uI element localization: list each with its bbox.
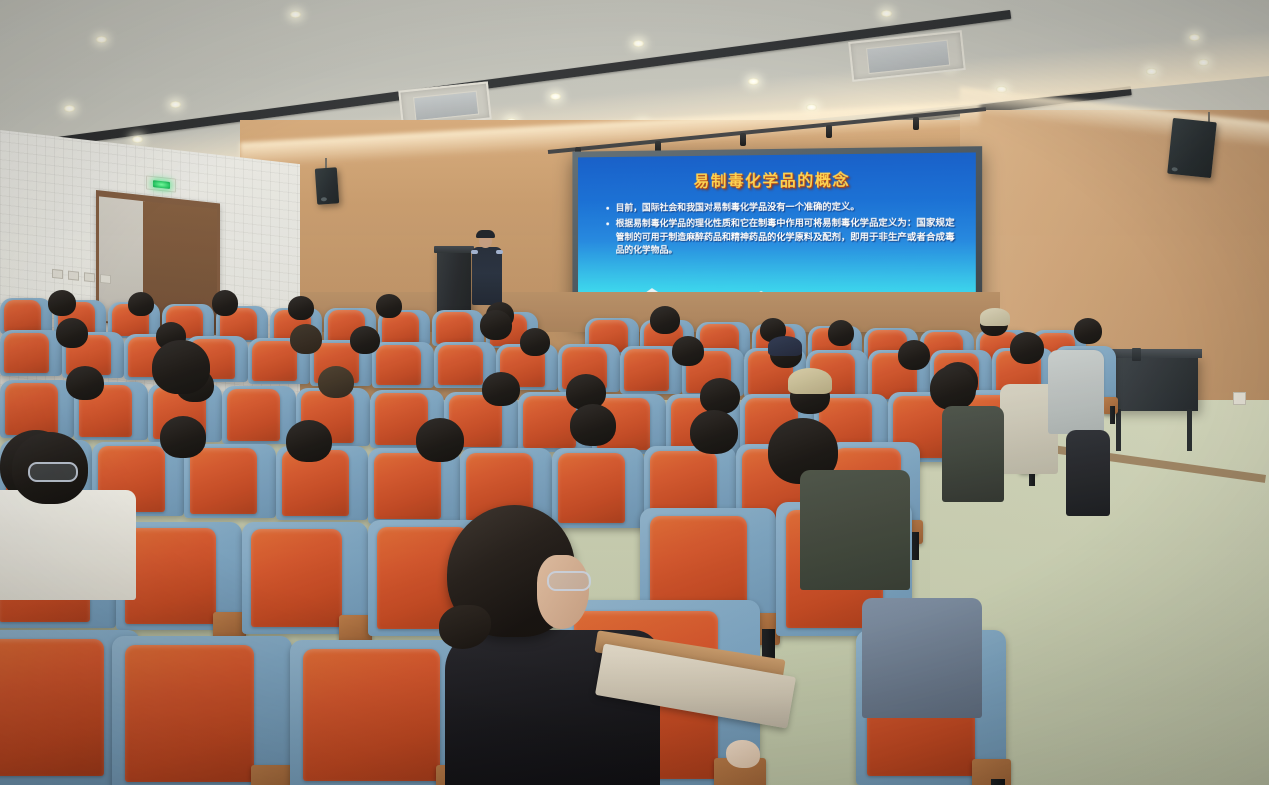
- track-light-head-icon: [826, 125, 832, 138]
- spotlight-icon: [748, 78, 759, 85]
- podium-top: [434, 246, 474, 253]
- spotlight-icon: [290, 11, 301, 18]
- speaker-left-icon: [315, 167, 339, 204]
- audience-head: [1010, 332, 1044, 364]
- spotlight-icon: [1198, 59, 1209, 66]
- audience-torso: [942, 406, 1004, 502]
- audience-head: [520, 328, 550, 356]
- exit-sign-icon: [146, 175, 176, 192]
- audience-head: [482, 372, 520, 406]
- podium: [437, 250, 471, 312]
- audience-head: [416, 418, 464, 462]
- presenter-shoulder-board: [496, 250, 503, 254]
- wall-outlet-icon: [84, 272, 95, 282]
- presenter: [470, 228, 504, 306]
- auditorium-seat[interactable]: [222, 386, 296, 444]
- spotlight-icon: [881, 10, 892, 17]
- audience-head: [480, 310, 512, 340]
- spotlight-icon: [96, 36, 107, 43]
- audience-head: [376, 294, 402, 318]
- spotlight-icon: [550, 93, 561, 100]
- wall-outlet-icon: [100, 274, 111, 284]
- spotlight-icon: [132, 136, 143, 143]
- audience-head: [212, 290, 238, 316]
- audience-head: [318, 366, 354, 398]
- auditorium-seat[interactable]: [112, 636, 292, 785]
- auditorium-seat[interactable]: [432, 310, 484, 346]
- audience-head: [152, 340, 210, 394]
- attendee-face: [537, 555, 589, 629]
- audience-head: [286, 420, 332, 462]
- eyeglasses-icon: [547, 571, 591, 591]
- auditorium-seat[interactable]: [184, 444, 276, 518]
- audience-head: [828, 320, 854, 346]
- audience-head: [672, 336, 704, 366]
- spotlight-icon: [1189, 34, 1200, 41]
- audience-torso: [0, 490, 136, 600]
- slide-body: 目前，国际社会和我国对易制毒化学品没有一个准确的定义。 根据易制毒化学品的理化性…: [606, 200, 957, 261]
- auditorium-photo: 易制毒化学品的概念 目前，国际社会和我国对易制毒化学品没有一个准确的定义。 根据…: [0, 0, 1269, 785]
- cap-icon: [980, 308, 1010, 326]
- audience-head: [160, 416, 206, 458]
- audience-torso: [1048, 350, 1104, 434]
- audience-head: [288, 296, 314, 320]
- audience-head: [690, 410, 738, 454]
- eyeglasses-icon: [28, 462, 78, 482]
- audience-head: [48, 290, 76, 316]
- audience-head: [66, 366, 104, 400]
- slide-bullet: 根据易制毒化学品的理化性质和它在制毒中作用可将易制毒化学品定义为：国家规定管制的…: [606, 217, 957, 258]
- audience-head: [350, 326, 380, 354]
- audience-head: [650, 306, 680, 334]
- desk-leg: [1187, 409, 1192, 451]
- spotlight-icon: [1146, 68, 1157, 75]
- track-light-head-icon: [740, 133, 746, 146]
- auditorium-seat[interactable]: [0, 298, 52, 334]
- audience-torso: [800, 470, 910, 590]
- spotlight-icon: [170, 101, 181, 108]
- desk-leg: [1116, 409, 1121, 451]
- audience-torso: [1066, 430, 1110, 516]
- audience-head: [56, 318, 88, 348]
- wall-outlet-icon: [68, 271, 79, 281]
- control-desk[interactable]: [1110, 355, 1198, 411]
- spotlight-icon: [64, 105, 75, 112]
- auditorium-seat[interactable]: [0, 330, 62, 376]
- attendee-hand: [726, 740, 760, 768]
- track-light-head-icon: [913, 117, 919, 130]
- auditorium-seat[interactable]: [242, 522, 368, 634]
- wall-outlet-icon: [52, 269, 63, 279]
- slide-title: 易制毒化学品的概念: [578, 165, 976, 193]
- cup-icon: [1132, 348, 1141, 361]
- audience-head: [128, 292, 154, 316]
- spotlight-icon: [633, 40, 644, 47]
- audience-head: [1074, 318, 1102, 344]
- audience-torso: [862, 598, 982, 718]
- desk-top: [1106, 349, 1202, 358]
- presenter-shoulder-board: [471, 250, 478, 254]
- light-switch-icon[interactable]: [1233, 392, 1246, 405]
- presenter-uniform: [472, 247, 502, 305]
- slide-bullet: 目前，国际社会和我国对易制毒化学品没有一个准确的定义。: [606, 200, 957, 215]
- cap-icon: [768, 336, 802, 356]
- speaker-right-icon: [1167, 118, 1217, 178]
- police-cap-icon: [476, 230, 495, 238]
- audience-head: [700, 378, 740, 414]
- audience-head: [290, 324, 322, 354]
- audience-head: [570, 404, 616, 446]
- auditorium-seat[interactable]: [372, 342, 434, 388]
- audience-head: [930, 366, 976, 410]
- cap-icon: [788, 368, 832, 394]
- audience-head: [898, 340, 930, 370]
